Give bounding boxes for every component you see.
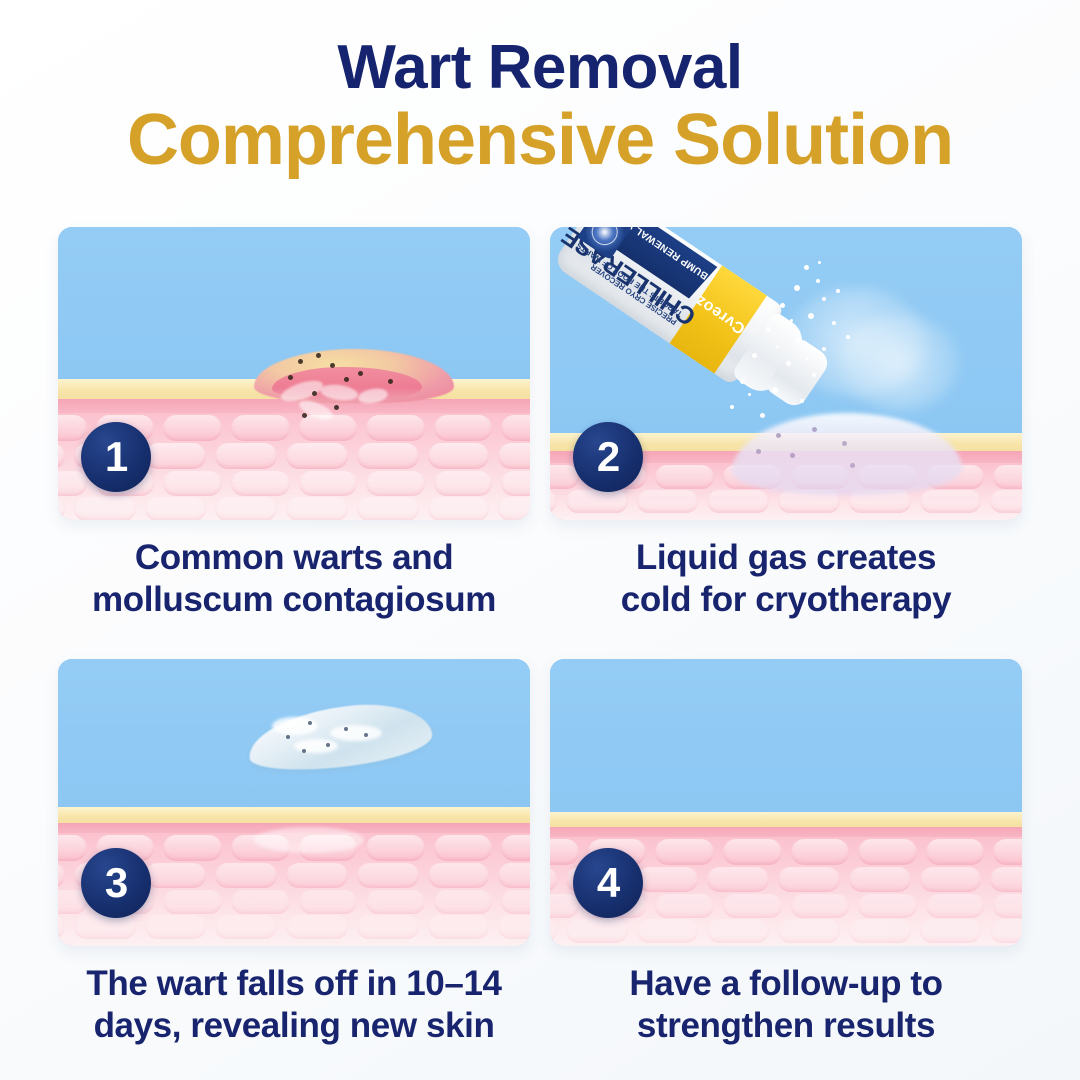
step-card-3: 3 The wart falls off in 10–14 days, reve… [58,659,530,1046]
step-badge-1: 1 [81,422,151,492]
step-number-1: 1 [105,436,127,478]
step-caption-2: Liquid gas creates cold for cryotherapy [550,537,1022,620]
step-illustration-4: 4 [550,659,1022,946]
step-card-2: Cvreoz BUMP RENEWAL SPRAY CHILLERASE PRE… [550,227,1022,620]
step-badge-4: 4 [573,848,643,918]
step-caption-2-line2: cold for cryotherapy [550,579,1022,621]
step-number-2: 2 [597,436,619,478]
step-illustration-3: 3 [58,659,530,946]
step-caption-4: Have a follow-up to strengthen results [550,963,1022,1046]
step-caption-1: Common warts and molluscum contagiosum [58,537,530,620]
steps-grid: 1 Common warts and molluscum contagiosum [58,227,1022,1047]
step-badge-3: 3 [81,848,151,918]
step-caption-1-line1: Common warts and [58,537,530,579]
page-title-secondary: Comprehensive Solution [0,102,1080,180]
step-number-3: 3 [105,862,127,904]
step-card-1: 1 Common warts and molluscum contagiosum [58,227,530,620]
step-caption-3: The wart falls off in 10–14 days, reveal… [58,963,530,1046]
step-caption-3-line1: The wart falls off in 10–14 [58,963,530,1005]
step-badge-2: 2 [573,422,643,492]
step-illustration-2: Cvreoz BUMP RENEWAL SPRAY CHILLERASE PRE… [550,227,1022,520]
step-caption-4-line1: Have a follow-up to [550,963,1022,1005]
page-header: Wart Removal Comprehensive Solution [0,0,1080,180]
page-title-primary: Wart Removal [0,36,1080,100]
step-illustration-1: 1 [58,227,530,520]
step-caption-3-line2: days, revealing new skin [58,1005,530,1047]
step-number-4: 4 [597,862,619,904]
step-caption-1-line2: molluscum contagiosum [58,579,530,621]
step-caption-4-line2: strengthen results [550,1005,1022,1047]
step-card-4: 4 Have a follow-up to strengthen results [550,659,1022,1046]
step-caption-2-line1: Liquid gas creates [550,537,1022,579]
